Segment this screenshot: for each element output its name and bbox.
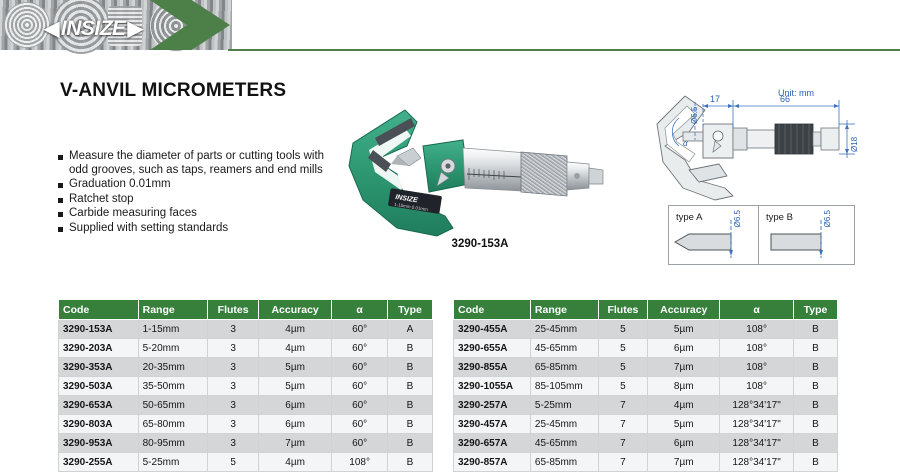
cell-accuracy: 6µm	[258, 396, 331, 415]
type-b-diagram: type B Ø6.5	[758, 205, 855, 265]
product-caption: 3290-153A	[345, 238, 615, 250]
cell-code: 3290-855A	[454, 358, 531, 377]
cell-code: 3290-457A	[454, 415, 531, 434]
cell-accuracy: 7µm	[258, 434, 331, 453]
column-header-accuracy: Accuracy	[258, 300, 331, 320]
column-header-range: Range	[530, 300, 598, 320]
square-bullet-icon	[58, 212, 63, 217]
cell-type: B	[387, 377, 432, 396]
list-item: Measure the diameter of parts or cutting…	[58, 150, 338, 177]
cell-flutes: 3	[208, 339, 259, 358]
cell-code: 3290-857A	[454, 453, 531, 472]
cell-type: A	[387, 320, 432, 339]
cell-alpha: 60°	[332, 396, 388, 415]
type-a-diagram: type A Ø6.5	[668, 205, 765, 265]
table-row: 3290-657A45-65mm76µm128°34'17"B	[454, 434, 838, 453]
logo-arrow-left-icon: ◀	[44, 19, 59, 39]
cell-accuracy: 6µm	[648, 339, 720, 358]
cell-flutes: 3	[208, 434, 259, 453]
feature-text: Supplied with setting standards	[69, 222, 228, 236]
cell-accuracy: 4µm	[258, 320, 331, 339]
type-a-label: type A	[676, 212, 702, 223]
cell-type: B	[793, 396, 837, 415]
cell-range: 35-50mm	[138, 377, 208, 396]
cell-range: 65-80mm	[138, 415, 208, 434]
cell-accuracy: 5µm	[648, 415, 720, 434]
cell-type: B	[793, 434, 837, 453]
cell-type: B	[387, 339, 432, 358]
cell-flutes: 7	[598, 453, 648, 472]
cell-flutes: 5	[598, 377, 648, 396]
cell-alpha: 60°	[332, 434, 388, 453]
cell-range: 45-65mm	[530, 434, 598, 453]
cell-code: 3290-455A	[454, 320, 531, 339]
cell-type: B	[387, 434, 432, 453]
square-bullet-icon	[58, 227, 63, 232]
type-b-label: type B	[766, 212, 793, 223]
cell-type: B	[793, 415, 837, 434]
cell-code: 3290-803A	[59, 415, 139, 434]
cell-alpha: 128°34'17"	[720, 434, 794, 453]
cell-accuracy: 7µm	[648, 358, 720, 377]
cell-code: 3290-203A	[59, 339, 139, 358]
cell-alpha: 128°34'17"	[720, 453, 794, 472]
page-title: V-ANVIL MICROMETERS	[60, 80, 286, 102]
cell-flutes: 5	[598, 358, 648, 377]
logo-arrow-right-icon: ▶	[128, 19, 143, 39]
cell-type: B	[793, 320, 837, 339]
cell-accuracy: 5µm	[258, 358, 331, 377]
cell-code: 3290-655A	[454, 339, 531, 358]
list-item: Carbide measuring faces	[58, 207, 338, 221]
table-row: 3290-255A5-25mm54µm108°B	[59, 453, 433, 472]
column-header-code: Code	[454, 300, 531, 320]
cell-range: 65-85mm	[530, 358, 598, 377]
cell-alpha: 108°	[720, 358, 794, 377]
cell-flutes: 5	[598, 339, 648, 358]
table-row: 3290-257A5-25mm74µm128°34'17"B	[454, 396, 838, 415]
cell-accuracy: 8µm	[648, 377, 720, 396]
cell-flutes: 3	[208, 377, 259, 396]
table-row: 3290-153A1-15mm34µm60°A	[59, 320, 433, 339]
feature-list: Measure the diameter of parts or cutting…	[58, 150, 338, 236]
cell-range: 5-25mm	[530, 396, 598, 415]
cell-flutes: 7	[598, 434, 648, 453]
square-bullet-icon	[58, 155, 63, 160]
list-item: Supplied with setting standards	[58, 222, 338, 236]
table-row: 3290-503A35-50mm35µm60°B	[59, 377, 433, 396]
column-header-type: Type	[387, 300, 432, 320]
page-header: ◀ INSIZE ▶	[0, 0, 900, 56]
cell-accuracy: 4µm	[648, 396, 720, 415]
cell-type: B	[387, 415, 432, 434]
column-header-type: Type	[793, 300, 837, 320]
cell-alpha: 128°34'17"	[720, 396, 794, 415]
cell-range: 1-15mm	[138, 320, 208, 339]
table-row: 3290-857A65-85mm77µm128°34'17"B	[454, 453, 838, 472]
cell-flutes: 3	[208, 358, 259, 377]
cell-code: 3290-1055A	[454, 377, 531, 396]
column-header-flutes: Flutes	[208, 300, 259, 320]
column-header-flutes: Flutes	[598, 300, 648, 320]
cell-code: 3290-257A	[454, 396, 531, 415]
cell-accuracy: 5µm	[258, 377, 331, 396]
column-header-range: Range	[138, 300, 208, 320]
square-bullet-icon	[58, 198, 63, 203]
cell-type: B	[793, 453, 837, 472]
spec-table-left: Code Range Flutes Accuracy α Type 3290-1…	[58, 299, 433, 472]
cell-type: B	[387, 358, 432, 377]
cell-alpha: 60°	[332, 358, 388, 377]
cell-flutes: 3	[208, 396, 259, 415]
svg-text:α: α	[683, 139, 688, 148]
cell-flutes: 7	[598, 396, 648, 415]
feature-text: Graduation 0.01mm	[69, 178, 171, 192]
logo-wordmark: INSIZE	[61, 17, 126, 41]
cell-flutes: 5	[208, 453, 259, 472]
cell-alpha: 60°	[332, 377, 388, 396]
table-row: 3290-655A45-65mm56µm108°B	[454, 339, 838, 358]
cell-accuracy: 6µm	[258, 415, 331, 434]
cell-alpha: 108°	[720, 377, 794, 396]
cell-accuracy: 6µm	[648, 434, 720, 453]
cell-code: 3290-953A	[59, 434, 139, 453]
column-header-accuracy: Accuracy	[648, 300, 720, 320]
cell-alpha: 108°	[720, 320, 794, 339]
cell-range: 25-45mm	[530, 320, 598, 339]
header-divider-rule	[228, 49, 900, 51]
table-row: 3290-1055A85-105mm58µm108°B	[454, 377, 838, 396]
cell-range: 85-105mm	[530, 377, 598, 396]
table-row: 3290-855A65-85mm57µm108°B	[454, 358, 838, 377]
column-header-alpha: α	[332, 300, 388, 320]
feature-text: Ratchet stop	[69, 193, 134, 207]
cell-alpha: 108°	[720, 339, 794, 358]
table-row: 3290-353A20-35mm35µm60°B	[59, 358, 433, 377]
cell-accuracy: 5µm	[648, 320, 720, 339]
insize-logo: ◀ INSIZE ▶	[44, 17, 142, 41]
technical-drawing: α 17 66 Ø6.5 Ø18	[655, 84, 900, 204]
feature-text: Measure the diameter of parts or cutting…	[69, 150, 338, 177]
feature-text: Carbide measuring faces	[69, 207, 197, 221]
table-header-row: Code Range Flutes Accuracy α Type	[454, 300, 838, 320]
table-row: 3290-455A25-45mm55µm108°B	[454, 320, 838, 339]
cell-flutes: 5	[598, 320, 648, 339]
cell-code: 3290-153A	[59, 320, 139, 339]
column-header-alpha: α	[720, 300, 794, 320]
product-photo-micrometer: INSIZE 1-15mm 0.01mm	[345, 88, 615, 258]
table-row: 3290-953A80-95mm37µm60°B	[59, 434, 433, 453]
cell-code: 3290-255A	[59, 453, 139, 472]
column-header-code: Code	[59, 300, 139, 320]
table-header-row: Code Range Flutes Accuracy α Type	[59, 300, 433, 320]
cell-range: 65-85mm	[530, 453, 598, 472]
cell-alpha: 128°34'17"	[720, 415, 794, 434]
cell-type: B	[793, 377, 837, 396]
cell-range: 45-65mm	[530, 339, 598, 358]
svg-text:17: 17	[710, 94, 720, 104]
svg-text:Ø6.5: Ø6.5	[690, 106, 699, 124]
table-row: 3290-803A65-80mm36µm60°B	[59, 415, 433, 434]
cell-alpha: 60°	[332, 415, 388, 434]
cell-range: 25-45mm	[530, 415, 598, 434]
cell-code: 3290-503A	[59, 377, 139, 396]
cell-range: 50-65mm	[138, 396, 208, 415]
cell-alpha: 60°	[332, 339, 388, 358]
table-row: 3290-457A25-45mm75µm128°34'17"B	[454, 415, 838, 434]
cell-type: B	[387, 396, 432, 415]
svg-text:Ø18: Ø18	[850, 136, 859, 152]
type-a-dim-label: Ø6.5	[733, 210, 742, 227]
cell-alpha: 108°	[332, 453, 388, 472]
list-item: Ratchet stop	[58, 193, 338, 207]
square-bullet-icon	[58, 183, 63, 188]
cell-flutes: 7	[598, 415, 648, 434]
cell-alpha: 60°	[332, 320, 388, 339]
cell-range: 80-95mm	[138, 434, 208, 453]
table-row: 3290-653A50-65mm36µm60°B	[59, 396, 433, 415]
cell-code: 3290-353A	[59, 358, 139, 377]
cell-flutes: 3	[208, 415, 259, 434]
cell-range: 20-35mm	[138, 358, 208, 377]
cell-code: 3290-653A	[59, 396, 139, 415]
cell-type: B	[387, 453, 432, 472]
cell-range: 5-20mm	[138, 339, 208, 358]
type-b-dim-label: Ø6.5	[823, 210, 832, 227]
cell-accuracy: 4µm	[258, 453, 331, 472]
cell-accuracy: 7µm	[648, 453, 720, 472]
spec-table-right: Code Range Flutes Accuracy α Type 3290-4…	[453, 299, 838, 472]
cell-range: 5-25mm	[138, 453, 208, 472]
table-row: 3290-203A5-20mm34µm60°B	[59, 339, 433, 358]
cell-flutes: 3	[208, 320, 259, 339]
cell-accuracy: 4µm	[258, 339, 331, 358]
drawing-unit-label: Unit: mm	[778, 88, 814, 98]
cell-code: 3290-657A	[454, 434, 531, 453]
list-item: Graduation 0.01mm	[58, 178, 338, 192]
cell-type: B	[793, 358, 837, 377]
cell-type: B	[793, 339, 837, 358]
